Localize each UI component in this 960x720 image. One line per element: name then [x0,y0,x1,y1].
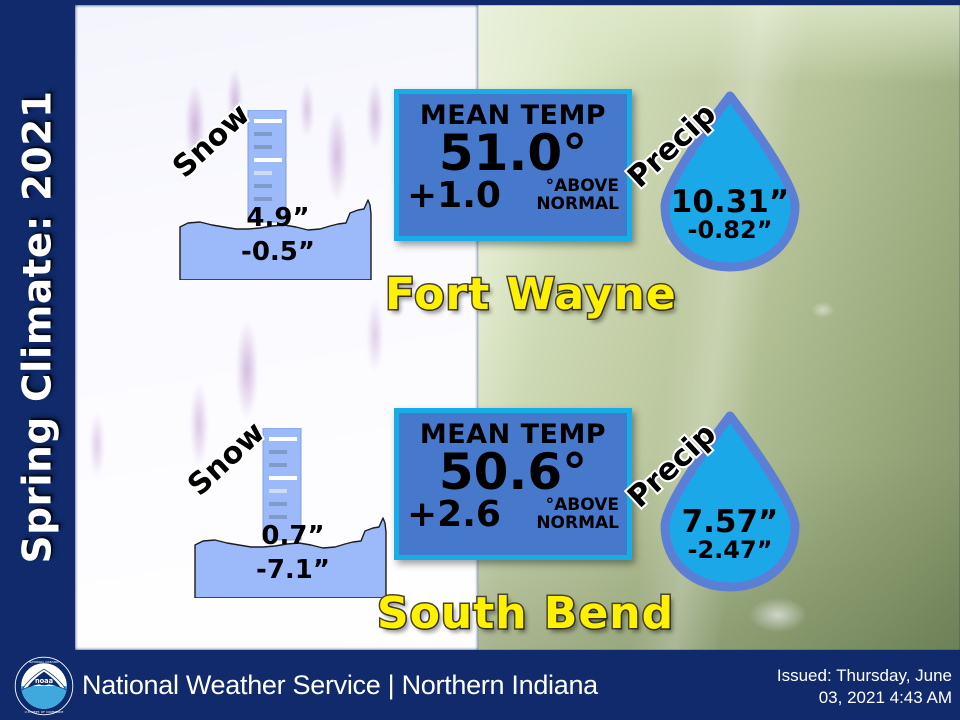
precip-departure: -2.47” [655,536,805,564]
agency-label: National Weather Service | Northern Indi… [82,670,598,701]
snow-departure: -7.1” [193,555,393,585]
above-label: ABOVE [554,176,619,196]
degree-symbol: ° [546,176,555,196]
mean-temp-departure-group: +1.0 °ABOVE NORMAL [399,177,627,219]
city-name-south-bend: South Bend [377,588,674,639]
mean-temp-box-fort-wayne: MEAN TEMP 51.0° +1.0 °ABOVE NORMAL [394,89,632,241]
mean-temp-departure-words: °ABOVE NORMAL [536,496,619,532]
footer-bar: noaa NATIONAL OCEANIC U.S. DEPT. OF COMM… [0,653,960,720]
svg-text:NATIONAL OCEANIC: NATIONAL OCEANIC [29,660,59,664]
mean-temp-departure: +2.6 [407,494,501,535]
normal-label: NORMAL [536,513,619,533]
snow-value: 0.7” [193,521,393,551]
weather-graphic: Spring Climate: 2021 4.9” -0.5” Snow MEA… [0,0,960,720]
above-label: ABOVE [554,495,619,515]
precip-value: 7.57” [655,504,805,540]
page-title: Spring Climate: 2021 [15,90,60,563]
issued-line-1: Issued: Thursday, June [777,666,952,685]
issued-timestamp: Issued: Thursday, June 03, 2021 4:43 AM [692,665,952,709]
noaa-logo-icon: noaa NATIONAL OCEANIC U.S. DEPT. OF COMM… [14,656,74,716]
degree-symbol: ° [546,495,555,515]
mean-temp-departure-words: °ABOVE NORMAL [536,177,619,213]
mean-temp-value: 50.6° [399,446,627,498]
snow-value: 4.9” [178,203,378,233]
precip-value: 10.31” [655,184,805,220]
mean-temp-departure: +1.0 [407,175,501,216]
precip-departure: -0.82” [655,216,805,244]
mean-temp-departure-group: +2.6 °ABOVE NORMAL [399,496,627,538]
side-title-bar: Spring Climate: 2021 [0,0,75,653]
mean-temp-value: 51.0° [399,127,627,179]
snow-departure: -0.5” [178,237,378,267]
mean-temp-box-south-bend: MEAN TEMP 50.6° +2.6 °ABOVE NORMAL [394,408,632,560]
svg-text:noaa: noaa [35,677,53,685]
normal-label: NORMAL [536,194,619,214]
issued-line-2: 03, 2021 4:43 AM [819,688,952,707]
svg-text:U.S. DEPT. OF COMMERCE: U.S. DEPT. OF COMMERCE [25,710,64,714]
city-name-fort-wayne: Fort Wayne [385,269,677,320]
